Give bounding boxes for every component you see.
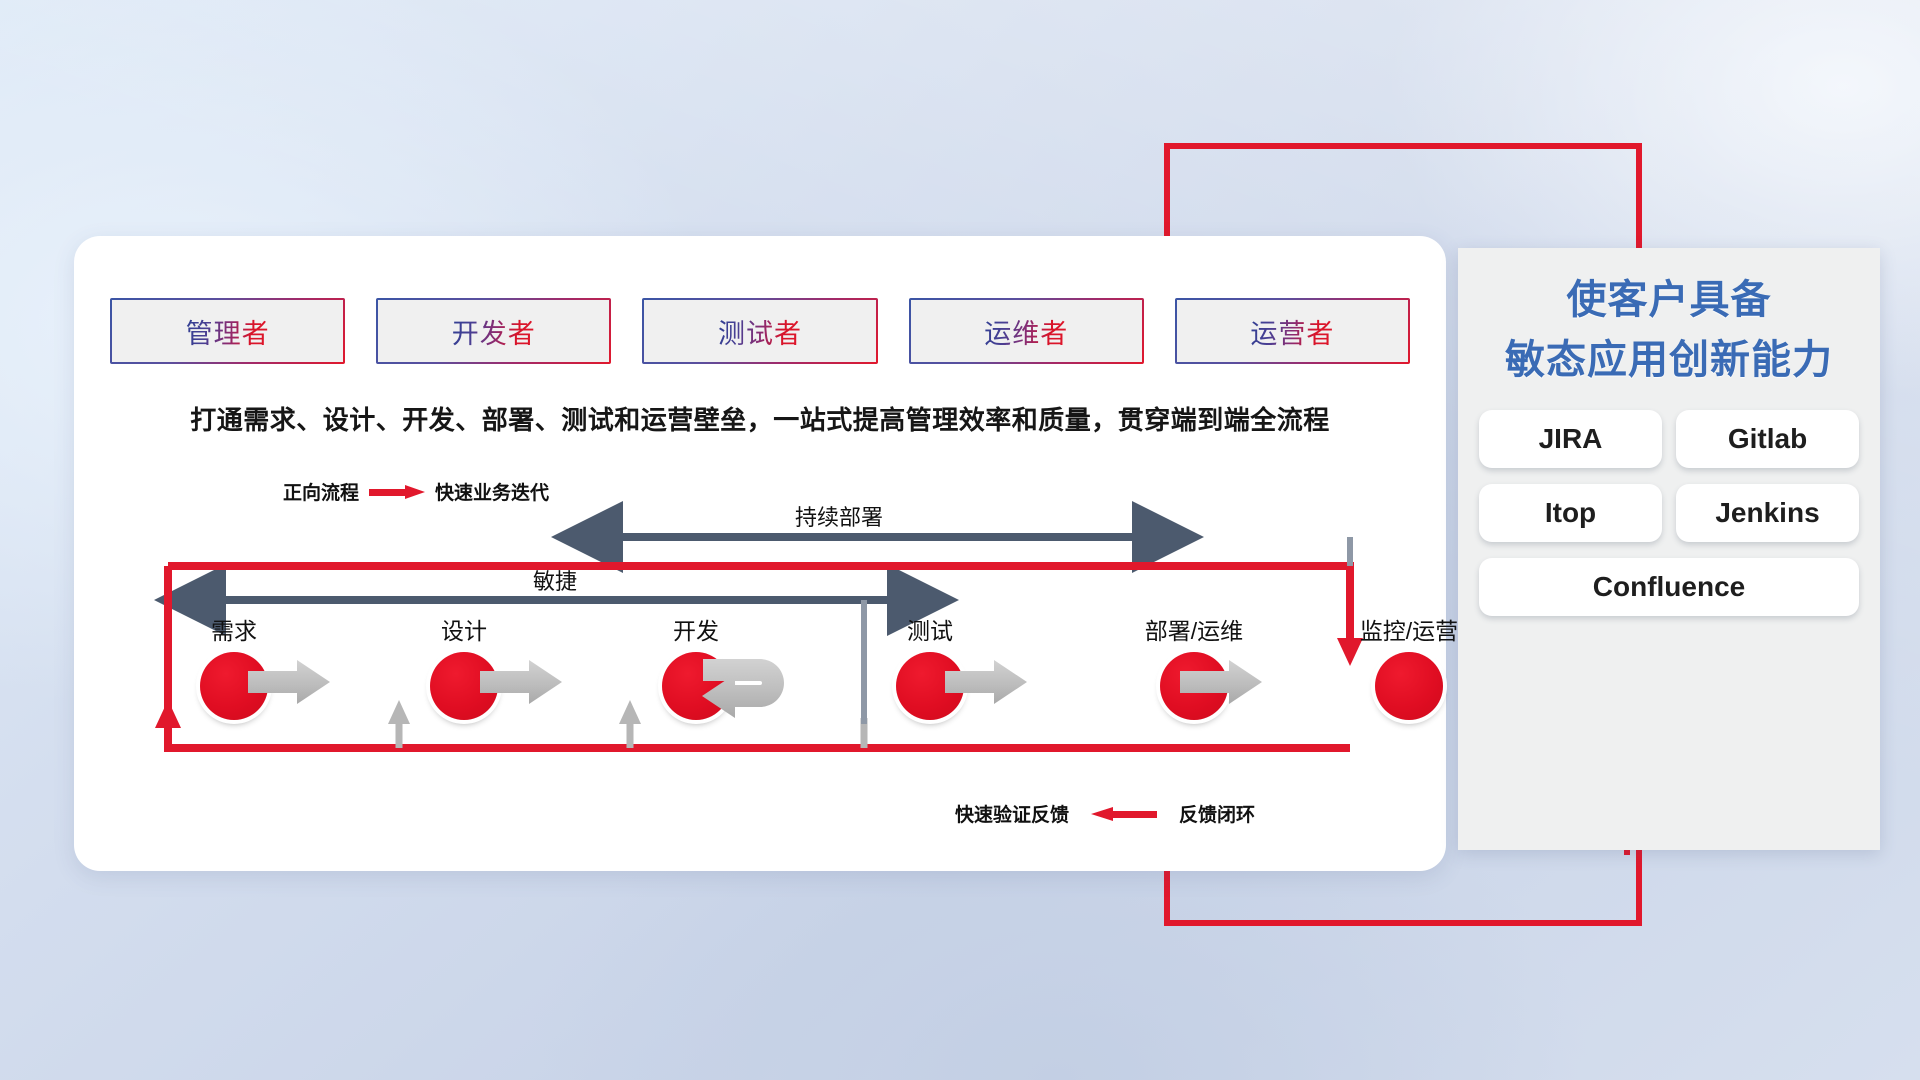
panel-title-line1: 使客户具备 [1458, 270, 1880, 330]
tool-chip-gitlab[interactable]: Gitlab [1676, 410, 1859, 468]
stage-dot [200, 652, 268, 720]
role-box-tester[interactable]: 测试者 [642, 298, 877, 364]
stage-deploy-ops[interactable]: 部署/运维 [1104, 620, 1284, 720]
devops-pipeline: 需求 设计 开发 测试 部署/运维 监控/运营 [74, 620, 1446, 740]
arrow-right-red-icon [369, 485, 425, 499]
stage-label: 开发 [631, 620, 761, 643]
stage-label: 设计 [399, 620, 529, 643]
tool-chip-confluence[interactable]: Confluence [1479, 558, 1859, 616]
legend-feedback-loop: 快速验证反馈 反馈闭环 [955, 800, 1255, 827]
stage-testing[interactable]: 测试 [865, 620, 995, 720]
role-label: 开发者 [452, 312, 536, 351]
legend-forward-flow: 正向流程 快速业务迭代 [283, 478, 549, 505]
role-box-manager[interactable]: 管理者 [110, 298, 345, 364]
tool-chip-grid: JIRA Gitlab Itop Jenkins Confluence [1474, 410, 1864, 616]
agile-label: 敏捷 [533, 564, 577, 596]
role-label: 运维者 [984, 312, 1068, 351]
stage-label: 测试 [865, 620, 995, 643]
description-text: 打通需求、设计、开发、部署、测试和运营壁垒，一站式提高管理效率和质量，贯穿端到端… [74, 400, 1446, 437]
stage-label: 部署/运维 [1104, 620, 1284, 643]
role-label: 管理者 [186, 312, 270, 351]
legend-forward-source-label: 正向流程 [283, 478, 359, 505]
role-box-operations[interactable]: 运营者 [1175, 298, 1410, 364]
panel-title-line2: 敏态应用创新能力 [1458, 330, 1880, 390]
stage-dot [662, 652, 730, 720]
stage-dot [1375, 652, 1443, 720]
stage-dot [1160, 652, 1228, 720]
stage-dot [430, 652, 498, 720]
stage-label: 需求 [169, 620, 299, 643]
tool-chip-jira[interactable]: JIRA [1479, 410, 1662, 468]
role-box-row: 管理者 开发者 测试者 运维者 运营者 [110, 298, 1410, 364]
role-box-ops[interactable]: 运维者 [909, 298, 1144, 364]
legend-feedback-source-label: 反馈闭环 [1179, 800, 1255, 827]
continuous-deployment-label: 持续部署 [795, 500, 883, 532]
stage-dot [896, 652, 964, 720]
tool-chip-jenkins[interactable]: Jenkins [1676, 484, 1859, 542]
role-label: 测试者 [718, 312, 802, 351]
role-box-developer[interactable]: 开发者 [376, 298, 611, 364]
tool-chip-itop[interactable]: Itop [1479, 484, 1662, 542]
value-proposition-panel: 使客户具备 敏态应用创新能力 JIRA Gitlab Itop Jenkins … [1458, 248, 1880, 850]
stage-design[interactable]: 设计 [399, 620, 529, 720]
stage-development[interactable]: 开发 [631, 620, 761, 720]
arrow-left-red-icon [1091, 807, 1157, 821]
legend-forward-target-label: 快速业务迭代 [435, 478, 549, 505]
stage-requirements[interactable]: 需求 [169, 620, 299, 720]
role-label: 运营者 [1250, 312, 1334, 351]
legend-feedback-target-label: 快速验证反馈 [955, 800, 1069, 827]
panel-title: 使客户具备 敏态应用创新能力 [1458, 248, 1880, 390]
